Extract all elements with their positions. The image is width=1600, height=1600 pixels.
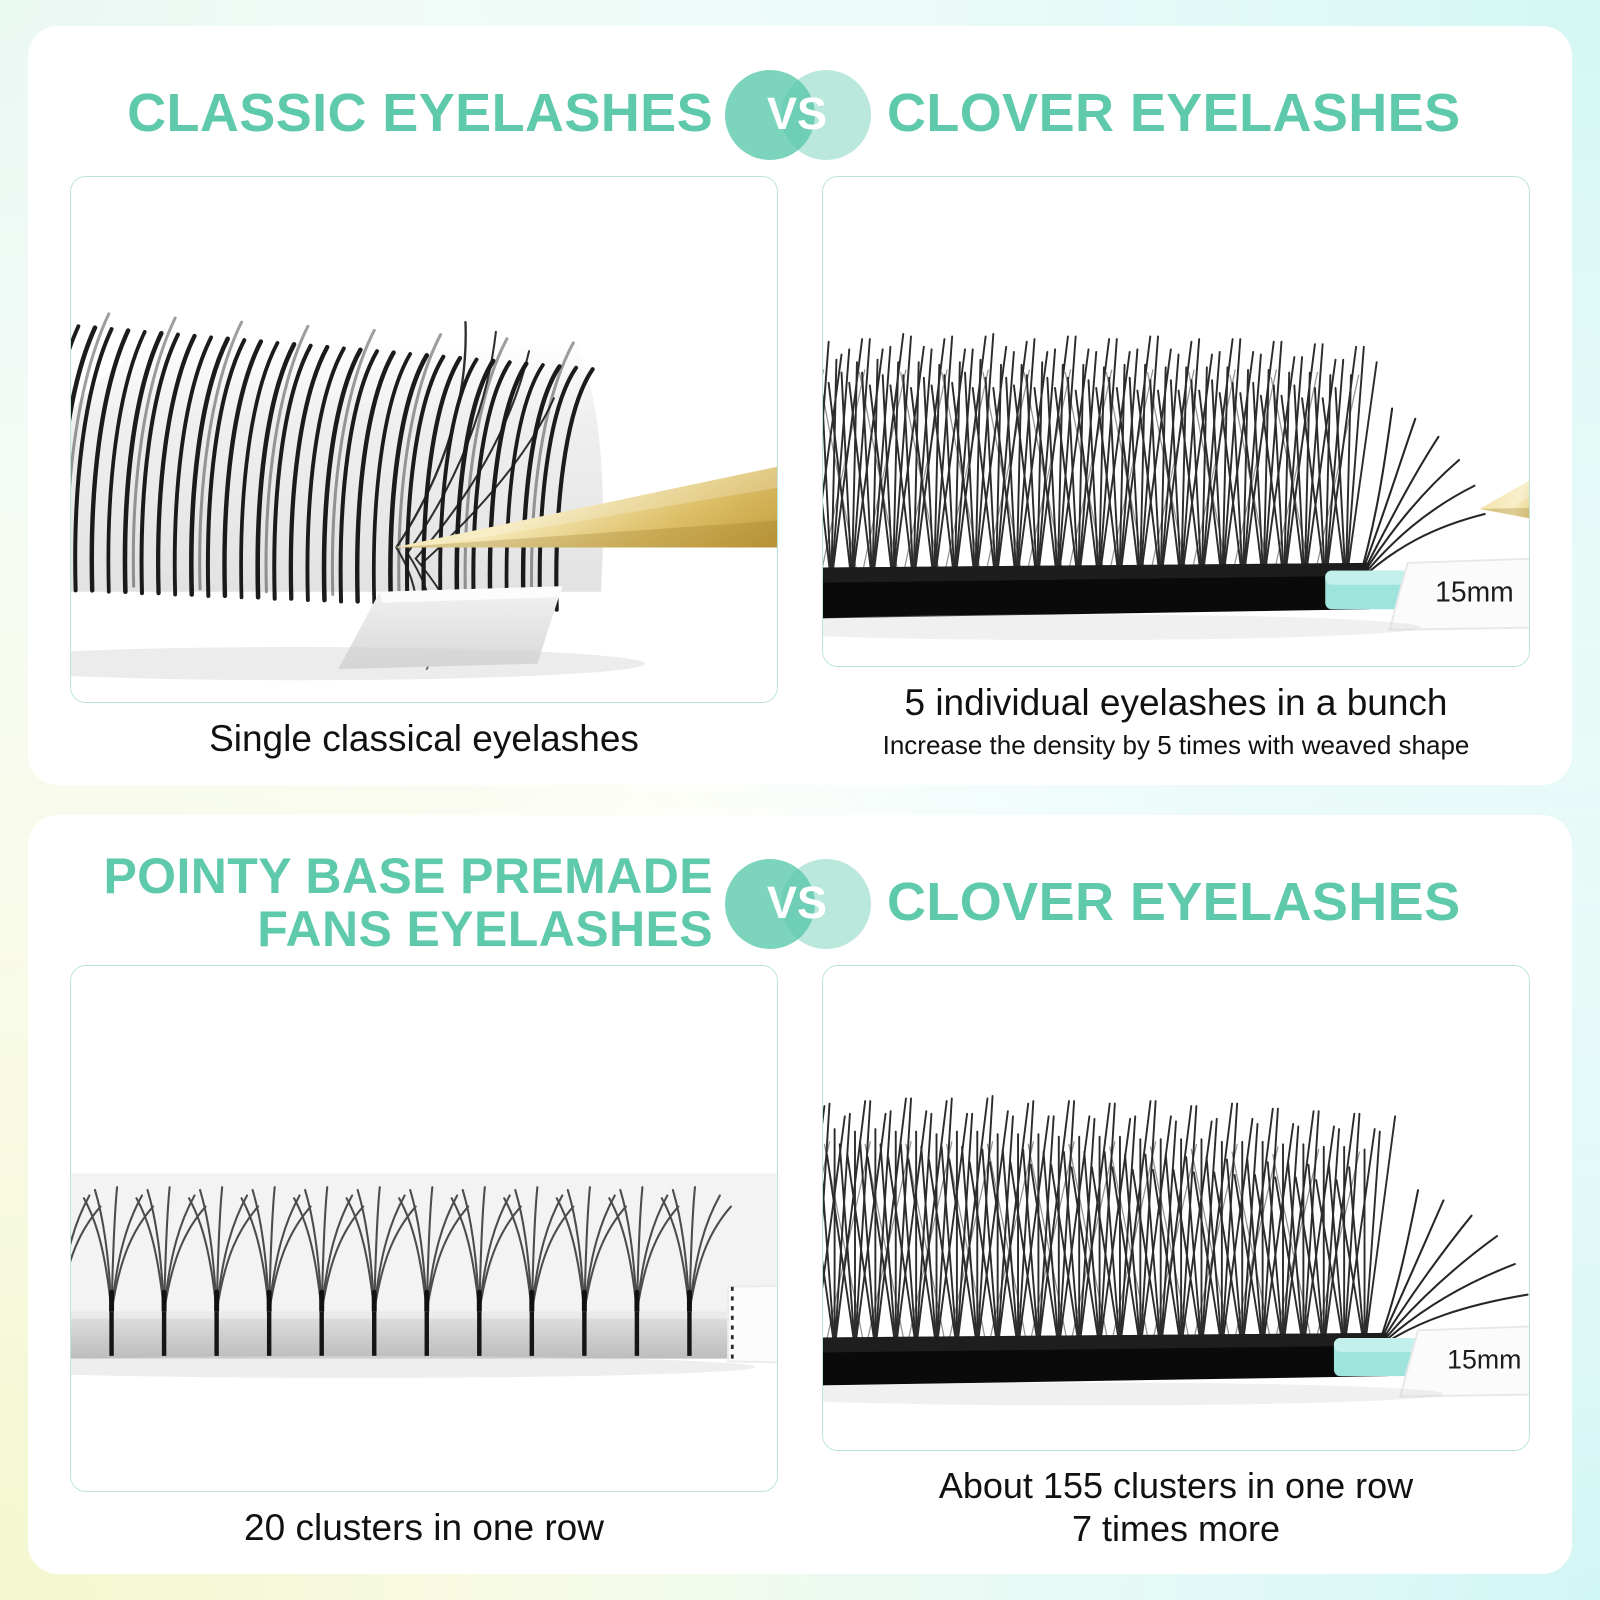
section-heading-2: POINTY BASE PREMADE FANS EYELASHES VS CL… <box>62 841 1538 965</box>
comparison-card-classic-vs-clover: CLASSIC EYELASHES VS CLOVER EYELASHES <box>28 26 1572 785</box>
classic-lashes-illustration <box>71 177 777 702</box>
vs-badge-1: VS <box>723 66 873 162</box>
panel-column-classic: Single classical eyelashes <box>70 176 778 761</box>
clover-dense-label-15mm: 15mm <box>1447 1345 1521 1375</box>
clover-lashes-dense-photo: 15mm <box>822 965 1530 1451</box>
comparison-card-pointy-vs-clover: POINTY BASE PREMADE FANS EYELASHES VS CL… <box>28 815 1572 1574</box>
caption-block-clover-2: About 155 clusters in one row 7 times mo… <box>822 1451 1530 1550</box>
heading-left-classic: CLASSIC EYELASHES <box>62 85 719 143</box>
caption-pointy-fans: 20 clusters in one row <box>70 1506 778 1550</box>
caption-block-classic: Single classical eyelashes <box>70 703 778 761</box>
caption-classic: Single classical eyelashes <box>70 717 778 761</box>
panel-column-clover-2: 15mm About 155 clusters in one row 7 tim… <box>822 965 1530 1550</box>
heading-right-clover-2: CLOVER EYELASHES <box>877 874 1538 932</box>
panel-column-pointy-fans: 13 20 clusters in one row <box>70 965 778 1550</box>
clover-dense-illustration: 15mm <box>823 966 1529 1450</box>
infographic-page: CLASSIC EYELASHES VS CLOVER EYELASHES <box>0 0 1600 1600</box>
caption-clover-2: About 155 clusters in one row <box>822 1465 1530 1507</box>
premade-fans-illustration: 13 <box>71 966 777 1491</box>
clover-lashes-photo: 15mm <box>822 176 1530 667</box>
caption-block-clover-1: 5 individual eyelashes in a bunch Increa… <box>822 667 1530 761</box>
photo-panels-2: 13 20 clusters in one row <box>62 965 1538 1550</box>
subcaption-clover-2: 7 times more <box>822 1508 1530 1550</box>
vs-badge-2: VS <box>723 855 873 951</box>
clover-label-15mm: 15mm <box>1435 576 1514 608</box>
subcaption-clover-1: Increase the density by 5 times with wea… <box>822 729 1530 762</box>
classic-single-lashes-photo <box>70 176 778 703</box>
pointy-base-premade-fans-photo: 13 <box>70 965 778 1492</box>
clover-lashes-illustration: 15mm <box>823 177 1529 666</box>
vs-label: VS <box>767 877 827 929</box>
caption-clover-1: 5 individual eyelashes in a bunch <box>822 681 1530 725</box>
photo-panels-1: Single classical eyelashes <box>62 176 1538 761</box>
panel-column-clover-1: 15mm 5 individual eyelashes in a bunch I… <box>822 176 1530 761</box>
vs-label: VS <box>767 88 827 140</box>
heading-right-clover: CLOVER EYELASHES <box>877 85 1538 143</box>
section-heading-1: CLASSIC EYELASHES VS CLOVER EYELASHES <box>62 52 1538 176</box>
heading-left-pointy-fans: POINTY BASE PREMADE FANS EYELASHES <box>62 850 719 957</box>
caption-block-pointy-fans: 20 clusters in one row <box>70 1492 778 1550</box>
